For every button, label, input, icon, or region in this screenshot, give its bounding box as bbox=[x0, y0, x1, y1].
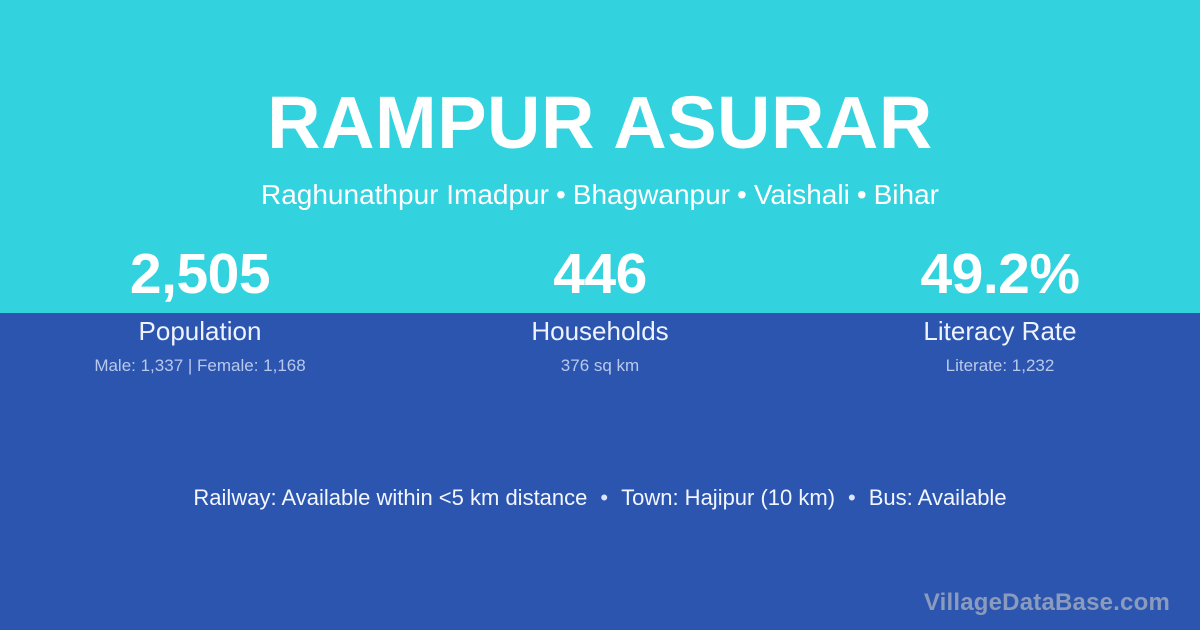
facility-separator-2: • bbox=[835, 485, 869, 510]
stat-households-value: 446 bbox=[400, 246, 800, 308]
stat-literacy-rate-detail: Literate: 1,232 bbox=[800, 357, 1200, 376]
stat-population-detail: Male: 1,337 | Female: 1,168 bbox=[0, 357, 400, 376]
stat-literacy-rate: 49.2% Literacy Rate Literate: 1,232 bbox=[800, 246, 1200, 375]
facilities-line: Railway: Available within <5 km distance… bbox=[0, 485, 1200, 511]
breadcrumb-separator-3: • bbox=[850, 179, 874, 210]
stat-population: 2,505 Population Male: 1,337 | Female: 1… bbox=[0, 246, 400, 375]
breadcrumb-separator-2: • bbox=[730, 179, 754, 210]
facility-bus: Bus: Available bbox=[869, 485, 1007, 510]
breadcrumb-district: Vaishali bbox=[754, 179, 850, 210]
facility-town: Town: Hajipur (10 km) bbox=[621, 485, 835, 510]
stat-population-label: Population bbox=[0, 317, 400, 346]
breadcrumb-block: Bhagwanpur bbox=[573, 179, 730, 210]
stat-households-label: Households bbox=[400, 317, 800, 346]
breadcrumb-panchayat: Raghunathpur Imadpur bbox=[261, 179, 549, 210]
stats-row: 2,505 Population Male: 1,337 | Female: 1… bbox=[0, 246, 1200, 375]
site-watermark: VillageDataBase.com bbox=[924, 589, 1170, 617]
village-title: RAMPUR ASURAR bbox=[0, 86, 1200, 160]
stat-households-detail: 376 sq km bbox=[400, 357, 800, 376]
village-summary-card: RAMPUR ASURAR Raghunathpur Imadpur•Bhagw… bbox=[0, 0, 1200, 630]
card-header: RAMPUR ASURAR Raghunathpur Imadpur•Bhagw… bbox=[0, 0, 1200, 211]
breadcrumb-separator-1: • bbox=[549, 179, 573, 210]
facility-railway: Railway: Available within <5 km distance bbox=[193, 485, 587, 510]
stat-literacy-rate-label: Literacy Rate bbox=[800, 317, 1200, 346]
location-breadcrumb: Raghunathpur Imadpur•Bhagwanpur•Vaishali… bbox=[0, 180, 1200, 211]
stat-literacy-rate-value: 49.2% bbox=[800, 246, 1200, 308]
stat-households: 446 Households 376 sq km bbox=[400, 246, 800, 375]
breadcrumb-state: Bihar bbox=[874, 179, 939, 210]
facility-separator-1: • bbox=[587, 485, 621, 510]
stat-population-value: 2,505 bbox=[0, 246, 400, 308]
